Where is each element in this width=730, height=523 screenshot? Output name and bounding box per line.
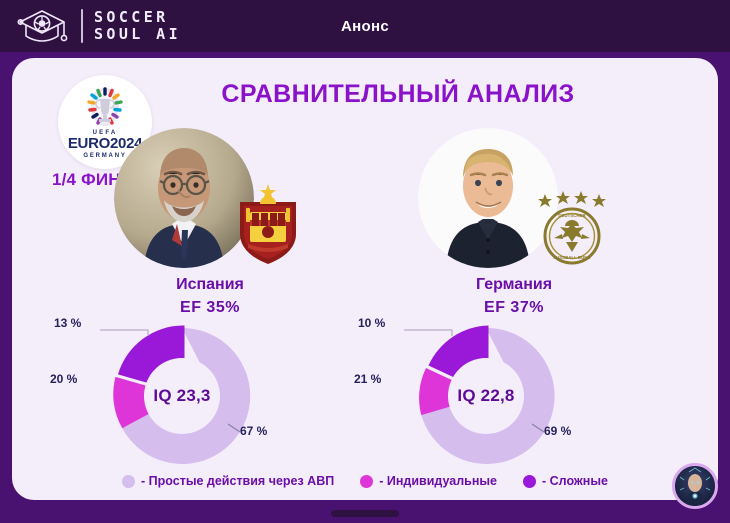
analysis-card: СРАВНИТЕЛЬНЫЙ АНАЛИЗ [12,58,718,500]
portrait-row: DEUTSCHER FUSSBALL BUND [364,128,664,270]
donut-svg-germany [410,320,562,472]
app-header: SOCCER SOUL AI [0,0,730,52]
spain-rfef-crest-icon [228,180,308,266]
legend-label: - Индивидуальные [379,474,497,488]
team-name-spain: Испания [60,276,360,294]
app-logo[interactable]: SOCCER SOUL AI [0,0,181,52]
donut-svg-spain [106,320,258,472]
team-block-germany: DEUTSCHER FUSSBALL BUND Германия EF 37% [364,128,664,317]
pct-label-complex: 10 % [358,316,385,330]
ai-character-avatar[interactable] [672,463,718,509]
legend-label: - Сложные [542,474,608,488]
team-ef-spain: EF 35% [60,299,360,317]
pct-label-individual: 21 % [354,372,381,386]
donut-hole [448,358,524,434]
logo-line-1: SOCCER [94,9,181,26]
donut-chart-germany: IQ 22,8 10 % 21 % 69 % [364,316,664,476]
pct-label-complex: 13 % [54,316,81,330]
pct-label-simple: 69 % [544,424,571,438]
team-block-spain: Испания EF 35% [60,128,360,317]
legend-label: - Простые действия через АВП [141,474,334,488]
pct-label-simple: 67 % [240,424,267,438]
legend-dot-icon [360,475,373,488]
graduation-cap-soccer-ball-icon [14,5,70,47]
legend-dot-icon [523,475,536,488]
home-indicator [331,510,399,517]
legend-item-individual[interactable]: - Индивидуальные [360,474,497,488]
chart-legend: - Простые действия через АВП - Индивидуа… [12,474,718,488]
legend-item-complex[interactable]: - Сложные [523,474,608,488]
svg-text:DEUTSCHER: DEUTSCHER [558,213,586,218]
portrait-row [60,128,360,270]
germany-dfb-crest-icon: DEUTSCHER FUSSBALL BUND [532,180,612,266]
donut-chart-spain: IQ 23,3 13 % 20 % 67 % [60,316,360,476]
legend-dot-icon [122,475,135,488]
pct-label-individual: 20 % [50,372,77,386]
logo-divider [81,9,83,43]
euro-2024-trophy-icon [79,86,131,129]
logo-line-2: SOUL AI [94,26,181,43]
team-ef-germany: EF 37% [364,299,664,317]
logo-wordmark: SOCCER SOUL AI [94,9,181,43]
legend-item-simple[interactable]: - Простые действия через АВП [122,474,334,488]
svg-text:FUSSBALL BUND: FUSSBALL BUND [553,255,590,260]
team-name-germany: Германия [364,276,664,294]
donut-hole [144,358,220,434]
